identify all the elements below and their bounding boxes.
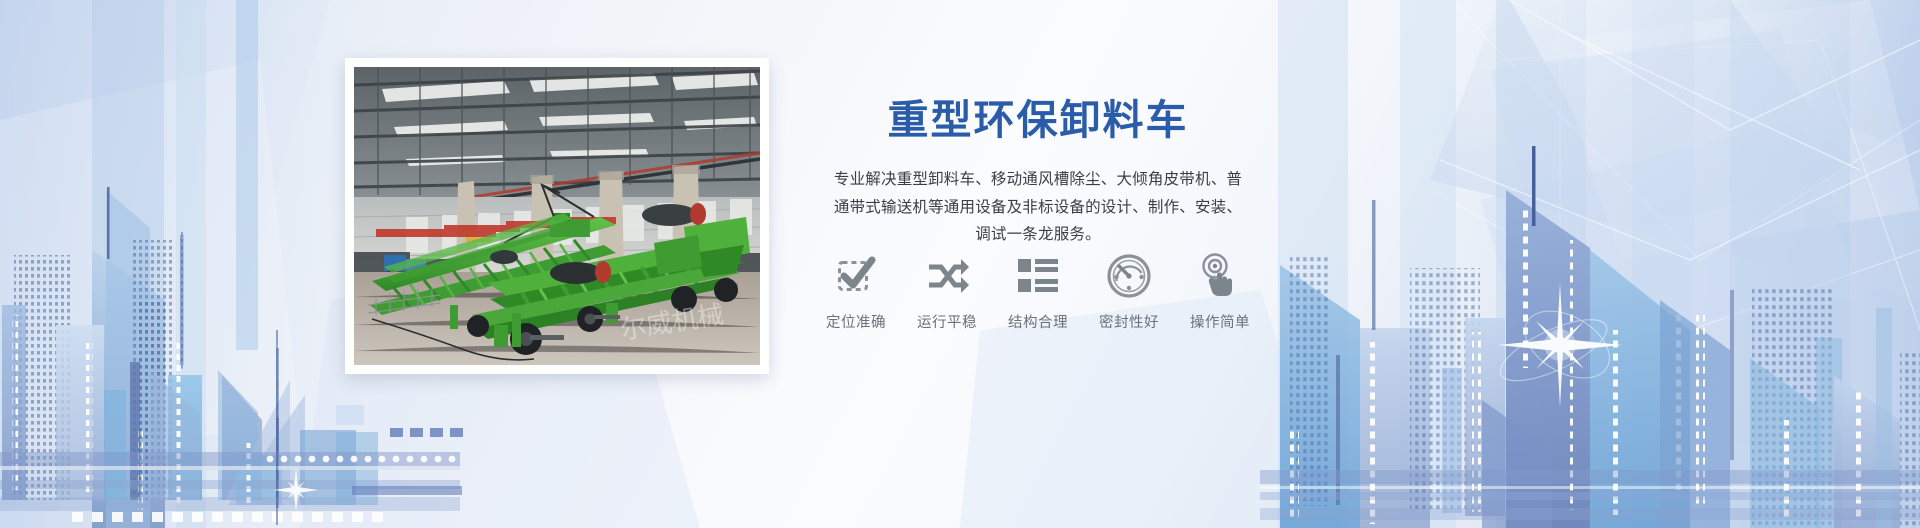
product-banner: 尔威机械 重型环保卸料车 专业解决重型卸料车、移动通风槽除尘、大倾角皮带机、普 … xyxy=(0,0,1920,528)
product-photo-card: 尔威机械 xyxy=(345,58,769,374)
subcopy-line-1: 专业解决重型卸料车、移动通风槽除尘、大倾角皮带机、普 xyxy=(834,171,1242,188)
check-dashed-box-icon xyxy=(832,252,880,300)
feature-label: 密封性好 xyxy=(1099,311,1159,332)
subcopy-line-3: 调试一条龙服务。 xyxy=(975,226,1101,243)
feature-list: 定位准确 运行平稳 xyxy=(818,252,1258,332)
feature-item-sealing[interactable]: 密封性好 xyxy=(1091,252,1167,332)
feature-item-easy-operation[interactable]: 操作简单 xyxy=(1182,252,1258,332)
feature-item-structure[interactable]: 结构合理 xyxy=(1000,252,1076,332)
page-title: 重型环保卸料车 xyxy=(810,96,1266,144)
feature-label: 运行平稳 xyxy=(917,311,977,332)
banner-subcopy: 专业解决重型卸料车、移动通风槽除尘、大倾角皮带机、普 通带式输送机等通用设备及非… xyxy=(810,166,1266,247)
feature-item-smooth-operation[interactable]: 运行平稳 xyxy=(909,252,985,332)
right-skyline-graphic xyxy=(1260,0,1920,528)
touch-hand-icon xyxy=(1196,252,1244,300)
feature-label: 定位准确 xyxy=(826,311,886,332)
banner-text-block: 重型环保卸料车 专业解决重型卸料车、移动通风槽除尘、大倾角皮带机、普 通带式输送… xyxy=(810,96,1266,248)
feature-label: 操作简单 xyxy=(1190,311,1250,332)
feature-label: 结构合理 xyxy=(1008,311,1068,332)
subcopy-line-2: 通带式输送机等通用设备及非标设备的设计、制作、安装、 xyxy=(834,199,1242,216)
product-photo: 尔威机械 xyxy=(354,67,760,365)
shuffle-arrows-icon xyxy=(923,252,971,300)
gauge-dial-icon xyxy=(1105,252,1153,300)
feature-item-positioning[interactable]: 定位准确 xyxy=(818,252,894,332)
list-grid-icon xyxy=(1014,252,1062,300)
